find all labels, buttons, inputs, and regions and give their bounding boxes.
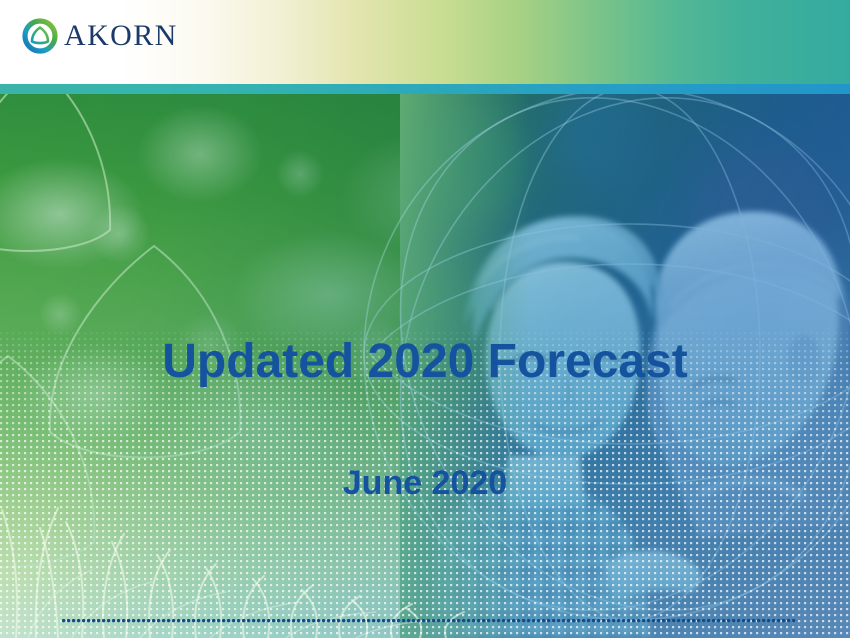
page-title: Updated 2020 Forecast xyxy=(0,334,850,389)
slide-header: AKORN xyxy=(0,0,850,84)
presentation-slide: AKORN xyxy=(0,0,850,638)
akorn-logo: AKORN xyxy=(22,18,178,54)
akorn-wordmark: AKORN xyxy=(64,21,178,51)
header-divider-band xyxy=(0,84,850,94)
footer-dotted-rule xyxy=(62,619,796,623)
hero-banner: Updated 2020 Forecast June 2020 xyxy=(0,94,850,638)
akorn-droplet-ring-icon xyxy=(22,18,58,54)
page-subtitle: June 2020 xyxy=(0,464,850,503)
